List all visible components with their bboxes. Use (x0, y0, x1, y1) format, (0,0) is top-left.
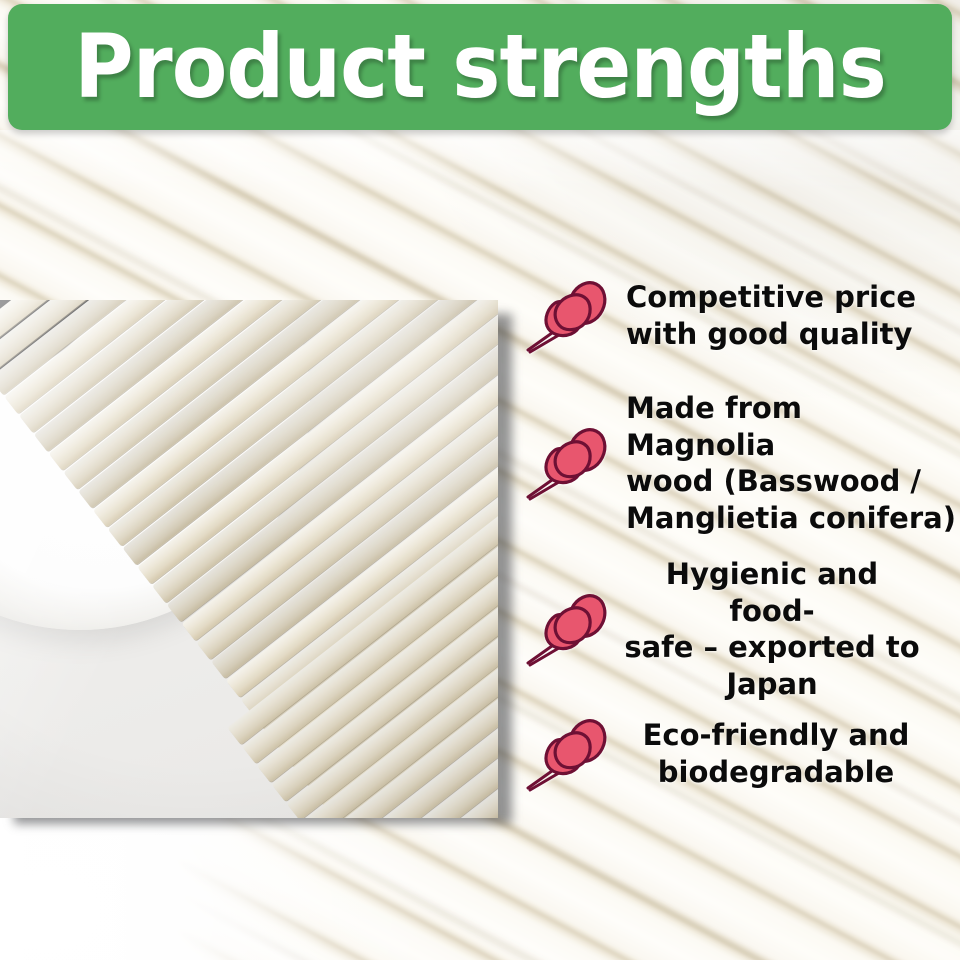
pushpin-icon (524, 585, 612, 673)
callout-competitive-price: Competitive price with good quality (524, 272, 916, 360)
pushpin-icon (524, 710, 612, 798)
pushpin-icon (524, 272, 612, 360)
infographic-canvas: Product strengths Competitive price with… (0, 0, 960, 960)
callout-text: Made from Magnolia wood (Basswood / Mang… (612, 390, 960, 536)
header-banner: Product strengths (8, 4, 952, 130)
callout-hygienic-food-safe: Hygienic and food- safe – exported to Ja… (524, 556, 922, 702)
callout-text: Eco-friendly and biodegradable (612, 717, 926, 790)
pushpin-icon (524, 419, 612, 507)
inset-product-photo (0, 300, 498, 818)
callout-magnolia-wood: Made from Magnolia wood (Basswood / Mang… (524, 390, 960, 536)
callout-eco-friendly: Eco-friendly and biodegradable (524, 710, 926, 798)
background-top-highlight (0, 130, 960, 190)
callout-text: Competitive price with good quality (612, 279, 916, 352)
page-title: Product strengths (74, 23, 886, 111)
callout-text: Hygienic and food- safe – exported to Ja… (612, 556, 922, 702)
